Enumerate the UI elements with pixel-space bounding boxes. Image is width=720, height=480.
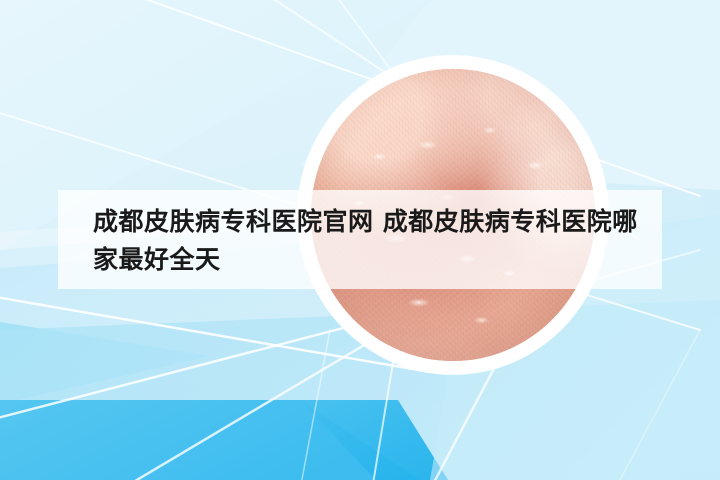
page-title: 成都皮肤病专科医院官网 成都皮肤病专科医院哪家最好全天 bbox=[93, 203, 653, 279]
thumbnail-canvas: 成都皮肤病专科医院官网 成都皮肤病专科医院哪家最好全天 bbox=[0, 0, 720, 480]
